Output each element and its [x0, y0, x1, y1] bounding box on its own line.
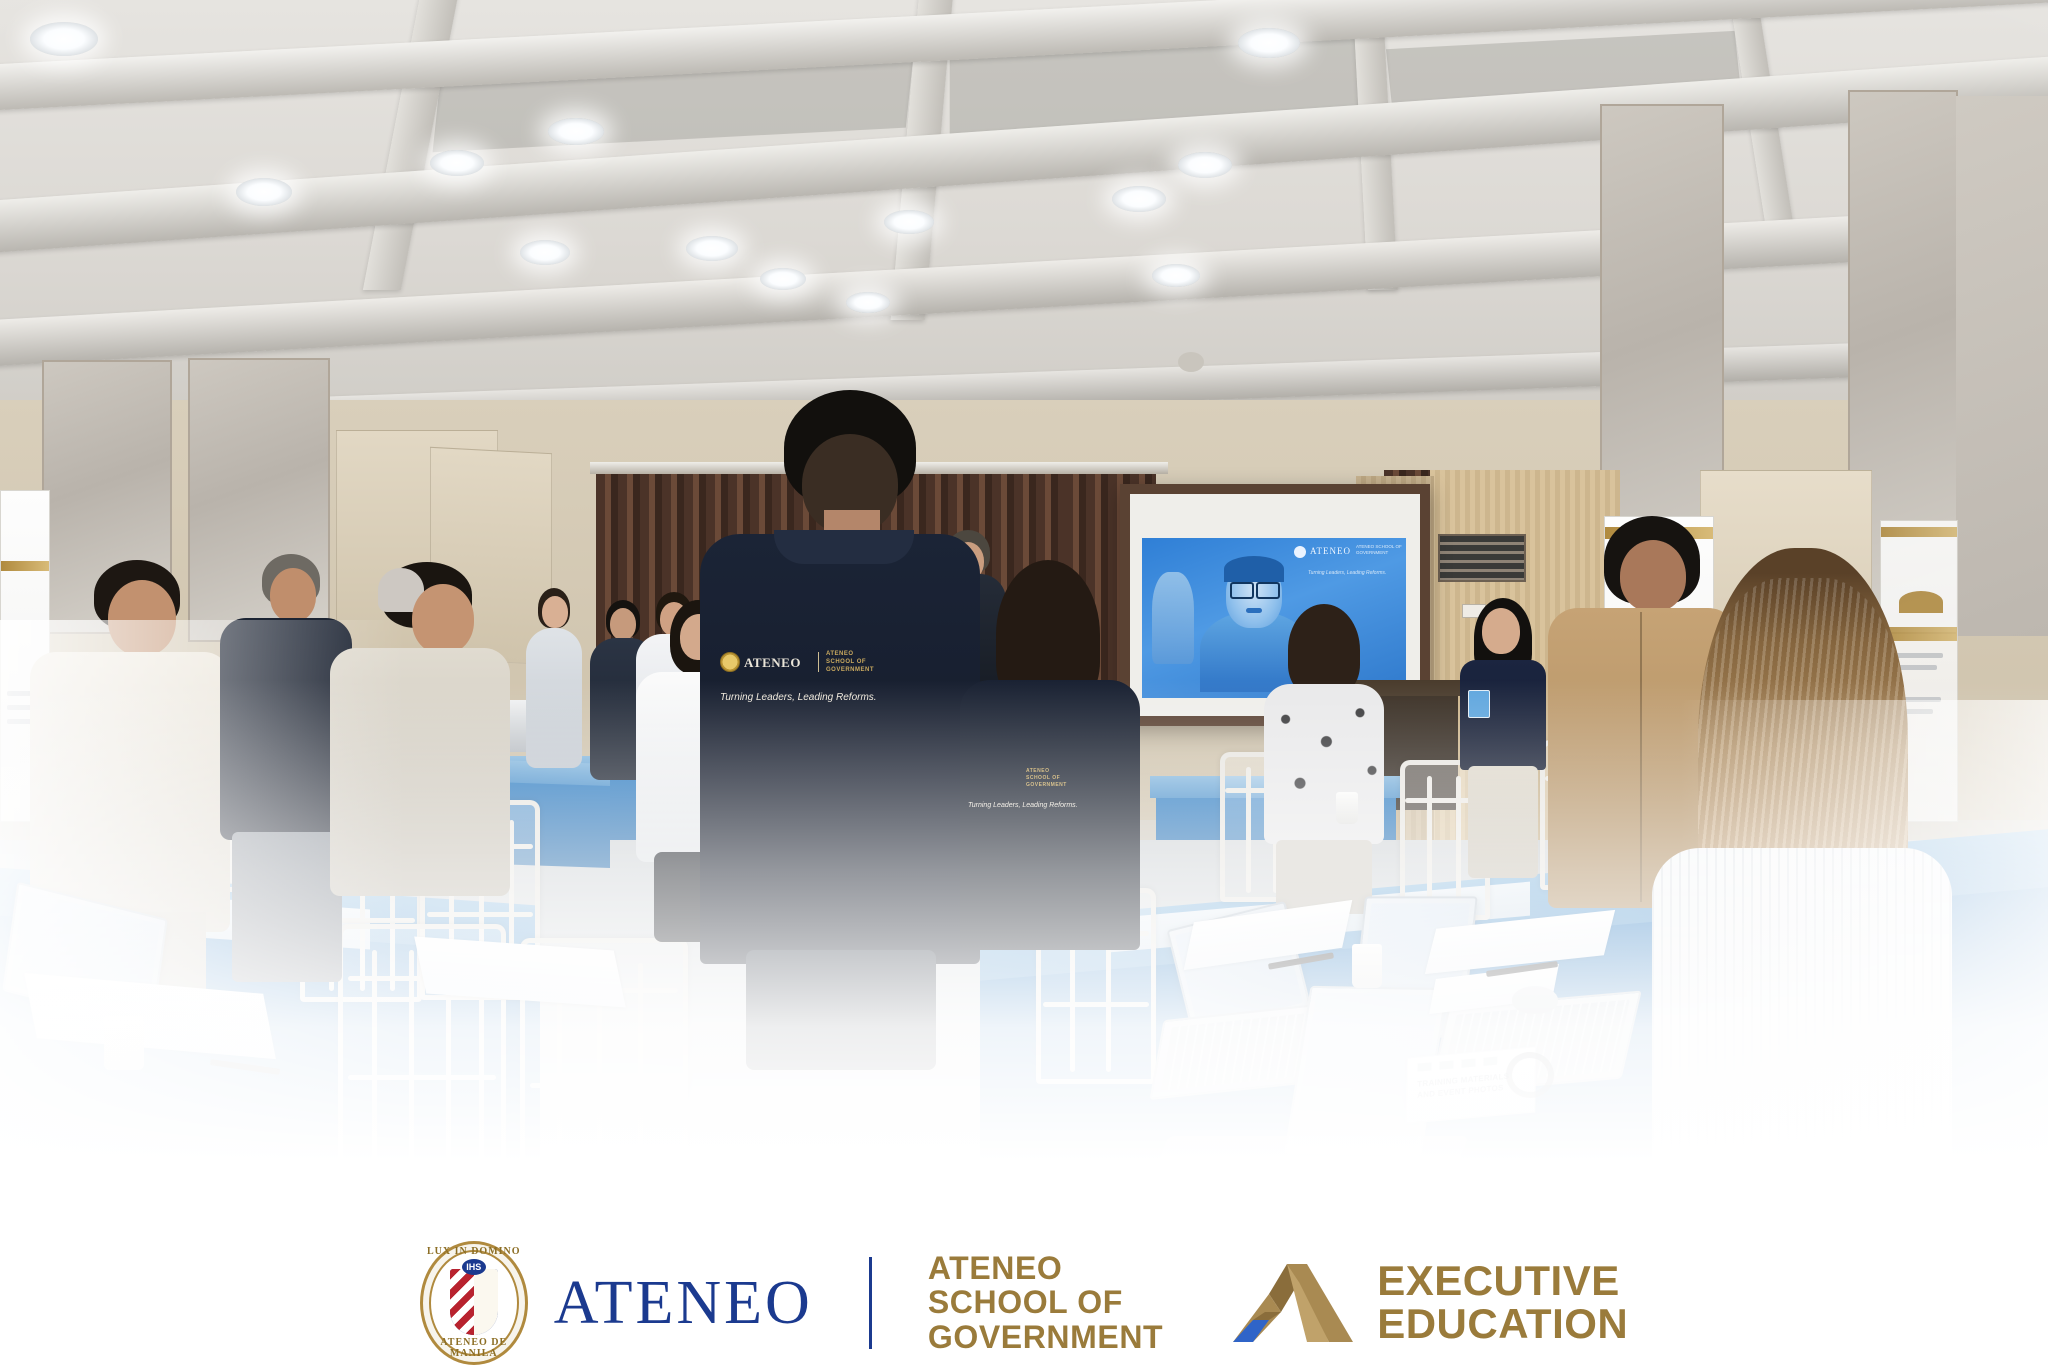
downlight: [236, 178, 292, 206]
chair-leg: [658, 1178, 664, 1240]
hair: [1288, 604, 1360, 696]
executive-education-mark-icon: [1225, 1260, 1353, 1346]
asg-unit-name: ATENEO SCHOOL OF GOVERNMENT: [928, 1251, 1163, 1355]
downlight: [1112, 186, 1166, 212]
person-man-ateneo-jacket-centre: ATENEO ATENEO SCHOOL OF GOVERNMENT Turni…: [700, 390, 980, 1050]
jacket-unit-line2: SCHOOL OF: [826, 659, 866, 665]
blouse-pattern: [1264, 684, 1384, 844]
ateneo-wordmark: ATENEO: [554, 1272, 813, 1334]
jacket-tagline: Turning Leaders, Leading Reforms.: [968, 802, 1078, 809]
person-woman-ateneo-jacket: ATENEO SCHOOL OF GOVERNMENT Turning Lead…: [960, 560, 1140, 980]
downlight: [1178, 152, 1232, 178]
executive-education-lockup: EXECUTIVE EDUCATION: [1225, 1260, 1628, 1346]
paper-cup: [1352, 944, 1382, 988]
speaker-glasses: [1256, 582, 1280, 599]
logo-divider: [869, 1257, 872, 1349]
chair-rail: [1043, 1002, 1149, 1007]
id-lanyard-badge: [1468, 690, 1490, 718]
seal-shield-right: [474, 1269, 498, 1335]
jacket-wordmark: ATENEO: [744, 655, 801, 671]
jacket-unit-line1: ATENEO: [1026, 768, 1049, 774]
ac-vent-grille: [1438, 534, 1526, 582]
seal-shield: [450, 1269, 498, 1335]
chair-spindle: [1246, 767, 1251, 893]
jacket-seam: [1640, 612, 1642, 902]
asg-line-1: ATENEO: [928, 1251, 1163, 1286]
asg-line-3: GOVERNMENT: [928, 1320, 1163, 1355]
downlight: [430, 150, 484, 176]
torso-jacket: [700, 534, 980, 964]
jacket-unit-line3: GOVERNMENT: [1026, 782, 1067, 788]
jeans: [746, 950, 936, 1070]
speaker-glasses: [1230, 582, 1254, 599]
event-photo: ATENEO ATENEO SCHOOL OF GOVERNMENT Turni…: [0, 0, 2048, 1240]
seal-ihs-monogram: IHS: [462, 1259, 486, 1275]
mirror-column: [1956, 96, 2048, 636]
head: [1482, 608, 1520, 654]
jacket-unit-line1: ATENEO: [826, 651, 854, 657]
seal-bottom-text: ATENEO DE MANILA: [420, 1337, 528, 1359]
seal-shield-left: [450, 1269, 474, 1335]
downlight: [884, 210, 934, 234]
jacket-seal-icon: [720, 652, 740, 672]
laptop-base: [1136, 1136, 1469, 1226]
person-staff-navy-polo: [1460, 598, 1546, 878]
downlight: [1152, 264, 1200, 287]
ateneo-de-manila-seal-icon: LUX IN DOMINO IHS ATENEO DE MANILA: [420, 1241, 528, 1365]
headphones: [1506, 1052, 1554, 1098]
jacket-collar: [774, 530, 914, 564]
downlight: [30, 22, 98, 56]
torso: [30, 652, 230, 932]
downlight: [1238, 28, 1300, 58]
jacket-tagline: Turning Leaders, Leading Reforms.: [720, 692, 877, 703]
tent-card-logos: [1418, 1057, 1498, 1072]
screenshot-canvas: ATENEO ATENEO SCHOOL OF GOVERNMENT Turni…: [0, 0, 2048, 1365]
chair-spindle: [1427, 776, 1432, 910]
executive-education-text: EXECUTIVE EDUCATION: [1377, 1260, 1628, 1346]
person-man-grey-jacket: [330, 562, 510, 942]
projected-logo-unit: ATENEO SCHOOL OF GOVERNMENT: [1356, 544, 1416, 555]
chair-spindle: [372, 950, 377, 1168]
statue-silhouette: [1152, 572, 1194, 664]
trousers: [232, 832, 342, 982]
person-woman-blonde-right: [1652, 548, 1952, 1240]
projected-logo-tagline: Turning Leaders, Leading Reforms.: [1308, 570, 1386, 576]
paper-cup: [104, 1016, 144, 1070]
head: [542, 596, 568, 628]
paper-cup: [1336, 792, 1358, 824]
seal-top-motto: LUX IN DOMINO: [420, 1246, 528, 1257]
chair-rail: [530, 1083, 678, 1088]
chair-spindle: [409, 950, 414, 1168]
speaker-mouth: [1246, 608, 1262, 613]
computer-mouse: [1512, 986, 1558, 1014]
footer-logo-bar: LUX IN DOMINO IHS ATENEO DE MANILA ATENE…: [0, 1240, 2048, 1365]
trousers: [1468, 766, 1538, 878]
chair-rail: [348, 1075, 496, 1080]
jacket-divider: [818, 652, 819, 672]
speaker-hair: [1224, 556, 1284, 582]
chair-leg: [547, 1178, 553, 1240]
head: [108, 580, 176, 656]
chair-leg: [479, 1174, 485, 1240]
banner-gold-band: [1881, 527, 1957, 537]
exec-ed-line-2: EDUCATION: [1377, 1303, 1628, 1346]
downlight: [846, 292, 890, 313]
person-woman-patterned-blouse: [1264, 604, 1384, 904]
downlight: [548, 118, 604, 145]
ateneo-asg-lockup: LUX IN DOMINO IHS ATENEO DE MANILA ATENE…: [420, 1241, 1163, 1365]
projected-logo-seal: [1294, 546, 1306, 558]
head: [610, 608, 636, 640]
head: [412, 584, 474, 654]
head: [270, 568, 316, 622]
downlight: [520, 240, 570, 265]
chair-leg: [362, 1174, 368, 1240]
blouse-texture: [1652, 848, 1952, 1240]
smoke-detector: [1178, 352, 1204, 372]
exec-ed-line-1: EXECUTIVE: [1377, 1260, 1628, 1303]
torso: [526, 628, 582, 768]
downlight: [760, 268, 806, 290]
jacket-unit-line2: SCHOOL OF: [1026, 775, 1060, 781]
chair-spindle: [638, 963, 643, 1173]
torso-jacket: [960, 680, 1140, 950]
jacket-unit-line3: GOVERNMENT: [826, 667, 874, 673]
projected-logo-wordmark: ATENEO: [1310, 546, 1351, 556]
torso: [330, 648, 510, 896]
downlight: [686, 236, 738, 261]
asg-line-2: SCHOOL OF: [928, 1285, 1163, 1320]
person-woman-back-left: [524, 588, 584, 768]
